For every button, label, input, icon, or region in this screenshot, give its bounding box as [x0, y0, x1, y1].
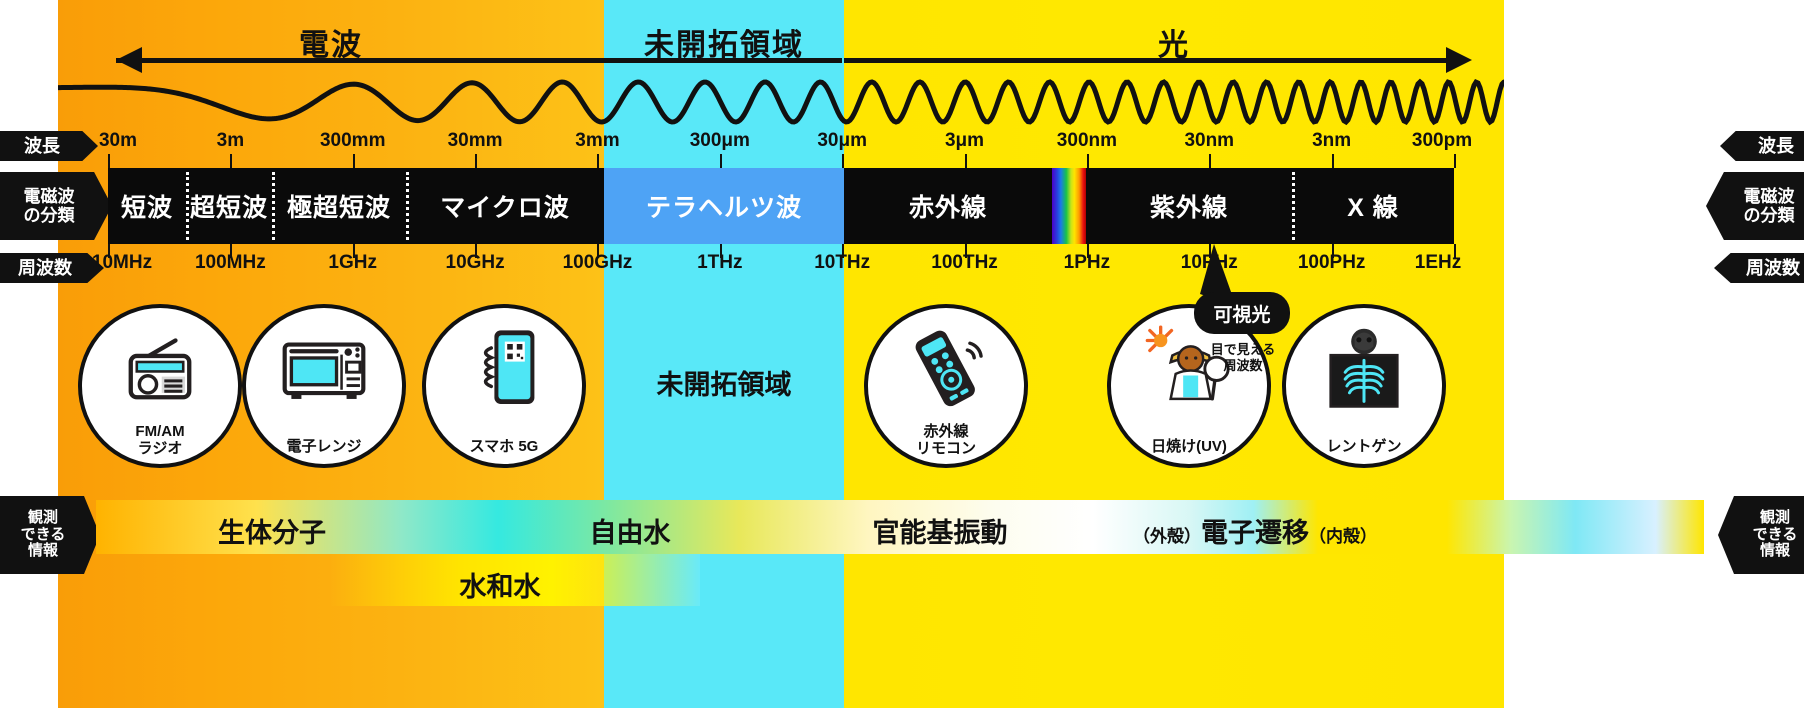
classification-divider	[272, 172, 275, 240]
wavelength-tick-label: 3nm	[1312, 130, 1351, 152]
wavelength-tick-label: 300pm	[1412, 130, 1472, 152]
frequency-tick-label: 1EHz	[1415, 252, 1461, 274]
axis-tick-mark	[720, 154, 722, 168]
wavelength-tick-label: 3mm	[575, 130, 619, 152]
axis-tick-mark	[475, 154, 477, 168]
axis-tick-mark	[1454, 154, 1456, 168]
classification-segment: 紫外線	[1086, 168, 1292, 244]
wavelength-tick-label: 300mm	[320, 130, 386, 152]
axis-tick-mark	[842, 154, 844, 168]
icon-circle-microwave: 電子レンジ	[242, 304, 406, 468]
arrow-radio-line	[116, 58, 842, 63]
icon-circle-label: 赤外線 リモコン	[868, 424, 1024, 458]
axis-tick-mark	[1087, 154, 1089, 168]
wavelength-tick-label: 3m	[217, 130, 244, 152]
wavelength-tick-label: 30m	[99, 130, 137, 152]
callout-subtitle: 目で見える 周波数	[1184, 342, 1302, 373]
frequency-tick-label: 10MHz	[92, 252, 152, 274]
arrow-radio-head	[116, 47, 142, 73]
wavelength-tick-label: 30μm	[817, 130, 867, 152]
arrow-light-line	[844, 58, 1446, 63]
axis-tick-mark	[353, 154, 355, 168]
axis-tick-mark	[1209, 154, 1211, 168]
icon-circle-ir-remote: 赤外線 リモコン	[864, 304, 1028, 468]
unexplored-center-label: 未開拓領域	[604, 363, 844, 402]
spectrum-diagram: 電波 未開拓領域 光 波長 波長 30m3m300mm30mm3mm300μm3…	[0, 0, 1804, 708]
frequency-tick-label: 100THz	[931, 252, 998, 274]
classification-segment: X 線	[1292, 168, 1454, 244]
classification-segment: 超短波	[186, 168, 272, 244]
xray-skeleton-icon	[1317, 326, 1411, 410]
wavelength-tick-label: 30mm	[448, 130, 503, 152]
classification-segment: 極超短波	[272, 168, 406, 244]
arrow-light-head	[1446, 47, 1472, 73]
frequency-tick-label: 1PHz	[1064, 252, 1110, 274]
icon-circle-label: 電子レンジ	[246, 439, 402, 456]
waveform-graphic	[58, 74, 1504, 130]
frequency-tick-label: 100PHz	[1298, 252, 1366, 274]
callout-bubble: 可視光	[1194, 292, 1290, 334]
tag-classification-right: 電磁波 の分類	[1706, 172, 1804, 240]
remote-control-icon	[899, 326, 993, 410]
icon-circle-smartphone-5g: スマホ 5G	[422, 304, 586, 468]
axis-tick-mark	[597, 154, 599, 168]
icon-circle-fm-am-radio: FM/AM ラジオ	[78, 304, 242, 468]
tag-observable-right: 観測 できる 情報	[1718, 496, 1804, 574]
radio-icon	[117, 326, 203, 410]
frequency-tick-label: 100MHz	[195, 252, 266, 274]
classification-divider	[186, 172, 189, 240]
icon-circle-label: 日焼け(UV)	[1111, 439, 1267, 456]
microwave-oven-icon	[278, 326, 370, 410]
observable-info-label: 自由水	[590, 511, 671, 550]
classification-divider	[406, 172, 409, 240]
classification-segment: 赤外線	[844, 168, 1052, 244]
classification-divider	[1292, 172, 1295, 240]
frequency-tick-label: 1THz	[697, 252, 742, 274]
frequency-tick-label: 1GHz	[328, 252, 377, 274]
wavelength-tick-label: 30nm	[1184, 130, 1234, 152]
wavelength-tick-label: 300nm	[1057, 130, 1117, 152]
frequency-tick-label: 10GHz	[446, 252, 505, 274]
icon-circle-x-ray: レントゲン	[1282, 304, 1446, 468]
visible-light-spectrum-icon	[1052, 168, 1086, 244]
classification-bar: 短波超短波極超短波マイクロ波テラヘルツ波赤外線紫外線X 線	[108, 168, 1454, 244]
axis-tick-mark	[230, 154, 232, 168]
tag-observable-left: 観測 できる 情報	[0, 496, 100, 574]
axis-tick-mark	[965, 154, 967, 168]
wavelength-tick-label: 300μm	[690, 130, 750, 152]
smartphone-icon	[464, 326, 544, 410]
axis-tick-mark	[1332, 154, 1334, 168]
classification-segment: マイクロ波	[406, 168, 604, 244]
classification-segment: テラヘルツ波	[604, 168, 844, 244]
observable-info-label: 水和水	[460, 565, 541, 604]
wavelength-tick-label: 3μm	[945, 130, 984, 152]
classification-segment: 短波	[108, 168, 186, 244]
icon-circle-label: レントゲン	[1286, 439, 1442, 456]
observable-info-label: 官能基振動	[873, 511, 1008, 550]
frequency-axis: 10MHz100MHz1GHz10GHz100GHz1THz10THz100TH…	[0, 252, 1804, 278]
wavelength-axis: 30m3m300mm30mm3mm300μm30μm3μm300nm30nm3n…	[0, 130, 1804, 156]
axis-tick-mark	[108, 154, 110, 168]
observable-info-label: 生体分子	[218, 511, 326, 550]
icon-circle-label: FM/AM ラジオ	[82, 424, 238, 458]
icon-circle-label: スマホ 5G	[426, 439, 582, 456]
frequency-tick-label: 10THz	[814, 252, 870, 274]
tag-classification-left: 電磁波 の分類	[0, 172, 112, 240]
frequency-tick-label: 100GHz	[563, 252, 633, 274]
observable-info-label: （外殻）電子遷移（内殻）	[1133, 511, 1377, 550]
